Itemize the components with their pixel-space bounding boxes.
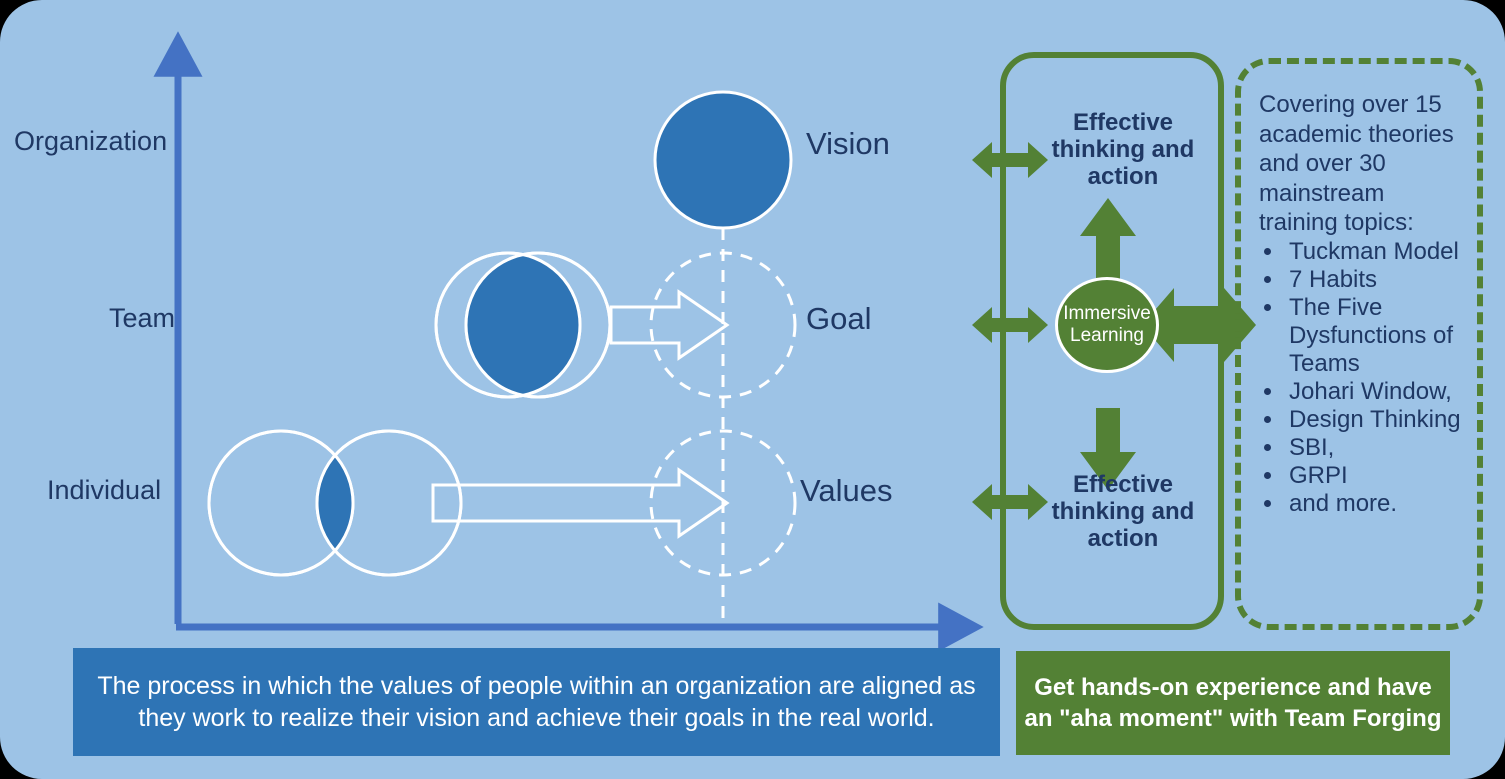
diagram-canvas: Organization Team Individual Vision Goal… [0, 0, 1505, 779]
cta-caption-text: Get hands-on experience and have an "aha… [1024, 672, 1442, 734]
goal-dashed-circle [651, 253, 795, 397]
list-item: Tuckman Model [1285, 238, 1463, 266]
training-topics-box: Covering over 15 academic theories and o… [1235, 58, 1483, 630]
team-circle-left [436, 253, 580, 397]
loop-text-top: Effective thinking and action [1035, 110, 1211, 191]
list-item: 7 Habits [1285, 266, 1463, 294]
definition-caption-box: The process in which the values of peopl… [73, 648, 1000, 756]
individual-to-values-arrow [433, 470, 727, 536]
node-label-goal: Goal [806, 301, 871, 337]
topics-intro-text: Covering over 15 academic theories and o… [1259, 90, 1463, 238]
cta-caption-box: Get hands-on experience and have an "aha… [1016, 651, 1450, 755]
node-label-vision: Vision [806, 126, 890, 162]
loop-text-bottom: Effective thinking and action [1035, 472, 1211, 553]
list-item: SBI, [1285, 434, 1463, 462]
axis-label-team: Team [109, 303, 175, 334]
axis-label-organization: Organization [14, 126, 167, 157]
definition-caption-text: The process in which the values of peopl… [85, 670, 988, 734]
team-overlap-fill [466, 253, 610, 397]
list-item: Design Thinking [1285, 406, 1463, 434]
individual-overlap-fill [317, 431, 461, 575]
immersive-learning-node[interactable]: Immersive Learning [1055, 277, 1159, 373]
team-to-goal-arrow [611, 292, 727, 358]
immersive-learning-label: Immersive Learning [1058, 303, 1156, 346]
individual-circle-left [209, 431, 353, 575]
list-item: The Five Dysfunctions of Teams [1285, 294, 1463, 378]
individual-circle-right [317, 431, 461, 575]
axis-label-individual: Individual [47, 475, 161, 506]
list-item: and more. [1285, 490, 1463, 518]
values-dashed-circle [651, 431, 795, 575]
list-item: Johari Window, [1285, 378, 1463, 406]
node-label-values: Values [800, 473, 893, 509]
list-item: GRPI [1285, 462, 1463, 490]
team-circle-right [466, 253, 610, 397]
vision-circle [655, 92, 791, 228]
topics-list: Tuckman Model 7 Habits The Five Dysfunct… [1259, 238, 1463, 519]
